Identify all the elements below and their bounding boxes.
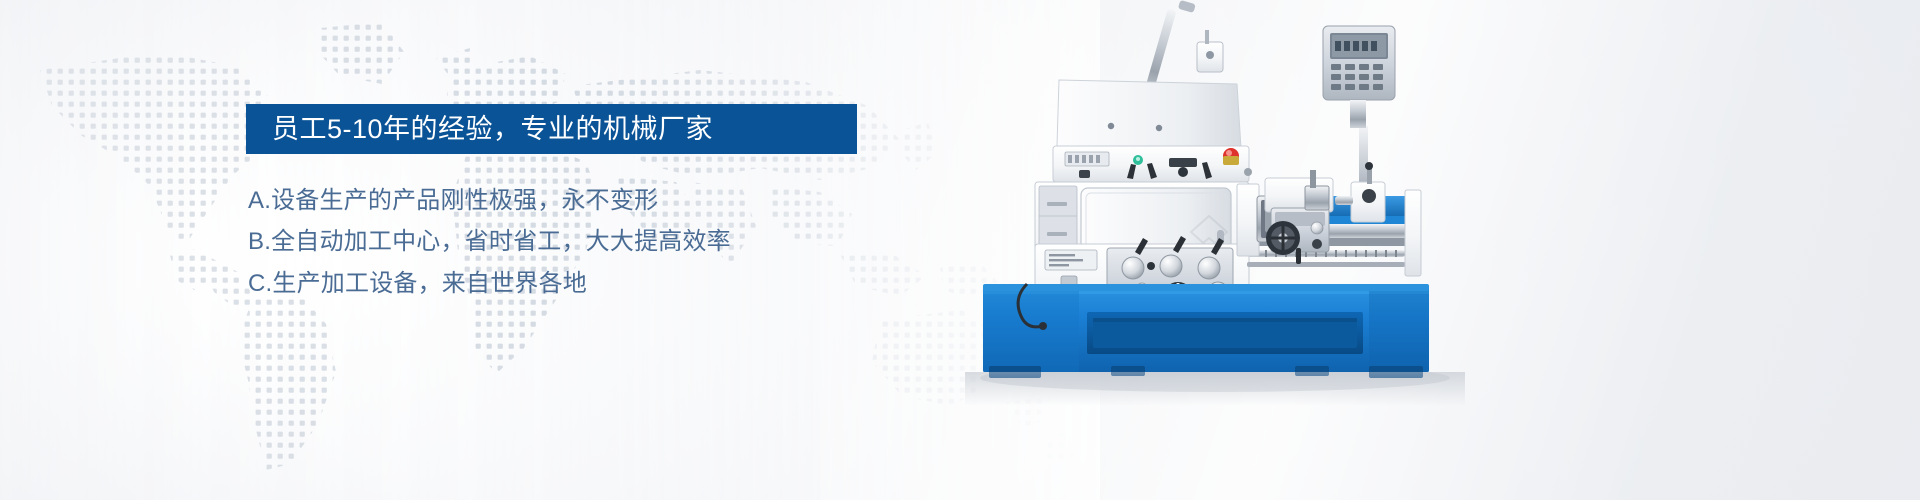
list-item: B.全自动加工中心，省时省工，大大提高效率 [248, 221, 886, 262]
carriage-apron [1265, 170, 1333, 264]
coolant-splash-guard [1057, 80, 1241, 148]
metal-lathe-machine-photo [965, 0, 1465, 500]
feature-list: A.设备生产的产品刚性极强，永不变形 B.全自动加工中心，省时省工，大大提高效率… [246, 180, 886, 304]
control-pendant [1197, 30, 1223, 72]
list-item: C.生产加工设备，来自世界各地 [248, 263, 886, 304]
list-item: A.设备生产的产品刚性极强，永不变形 [248, 180, 886, 221]
banner-text-block: 员工5-10年的经验，专业的机械厂家 A.设备生产的产品刚性极强，永不变形 B.… [246, 104, 886, 304]
control-panel [1053, 146, 1252, 182]
headline-bar: 员工5-10年的经验，专业的机械厂家 [246, 104, 857, 154]
blue-cabinet-base [983, 284, 1429, 378]
promo-banner: 员工5-10年的经验，专业的机械厂家 A.设备生产的产品刚性极强，永不变形 B.… [0, 0, 1920, 500]
